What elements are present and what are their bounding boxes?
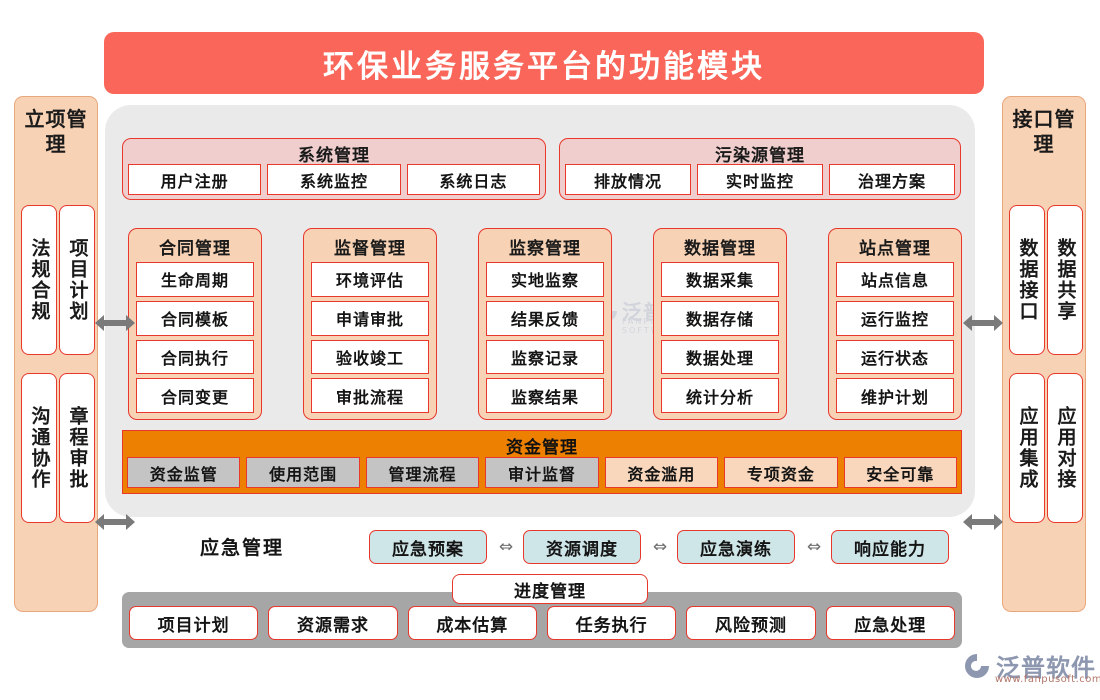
card-contract-management: 合同管理 生命周期 合同模板 合同执行 合同变更: [128, 228, 262, 420]
item-treatment-plan[interactable]: 治理方案: [829, 164, 955, 195]
card-supervision-management-title: 监督管理: [304, 234, 436, 259]
item-acceptance-completion[interactable]: 验收竣工: [311, 340, 429, 375]
sidebar-left-heading: 立项管理: [15, 107, 97, 157]
item-system-monitoring[interactable]: 系统监控: [267, 164, 400, 195]
panel-system-management-items: 用户注册 系统监控 系统日志: [128, 164, 540, 195]
item-contract-template[interactable]: 合同模板: [136, 301, 254, 336]
item-emergency-drill[interactable]: 应急演练: [677, 530, 795, 564]
item-contract-execution[interactable]: 合同执行: [136, 340, 254, 375]
item-resource-requirement[interactable]: 资源需求: [268, 606, 397, 640]
item-operation-status[interactable]: 运行状态: [836, 340, 954, 375]
sidebar-item-data-interface[interactable]: 数据接口: [1009, 205, 1045, 355]
card-station-management-items: 站点信息 运行监控 运行状态 维护计划: [836, 262, 954, 413]
item-emission-status[interactable]: 排放情况: [565, 164, 691, 195]
panel-pollution-source-management: 污染源管理 排放情况 实时监控 治理方案: [559, 138, 961, 200]
card-station-management-title: 站点管理: [829, 234, 961, 259]
card-supervision-management: 监督管理 环境评估 申请审批 验收竣工 审批流程: [303, 228, 437, 420]
connector-arrow-right-top-icon: [962, 312, 1004, 334]
sidebar-item-data-sharing[interactable]: 数据共享: [1047, 205, 1083, 355]
panel-pollution-source-items: 排放情况 实时监控 治理方案: [565, 164, 955, 195]
item-special-fund[interactable]: 专项资金: [724, 457, 837, 488]
emergency-arrow-icon-1: ⇔: [491, 539, 521, 555]
item-system-log[interactable]: 系统日志: [407, 164, 540, 195]
item-maintenance-plan[interactable]: 维护计划: [836, 378, 954, 413]
diagram-canvas: 环保业务服务平台的功能模块 立项管理 法规合规 项目计划 沟通协作 章程审批 接…: [0, 0, 1100, 700]
item-task-execution[interactable]: 任务执行: [547, 606, 676, 640]
item-emergency-handling[interactable]: 应急处理: [826, 606, 955, 640]
sidebar-item-regulation-compliance[interactable]: 法规合规: [21, 205, 57, 355]
sidebar-right-heading: 接口管理: [1003, 107, 1085, 157]
item-environmental-assessment[interactable]: 环境评估: [311, 262, 429, 297]
item-safe-reliable[interactable]: 安全可靠: [844, 457, 957, 488]
card-inspection-management-title: 监察管理: [479, 234, 611, 259]
panel-progress-management-items: 项目计划 资源需求 成本估算 任务执行 风险预测 应急处理: [129, 606, 955, 640]
item-result-feedback[interactable]: 结果反馈: [486, 301, 604, 336]
card-data-management-title: 数据管理: [654, 234, 786, 259]
item-approval-process[interactable]: 审批流程: [311, 378, 429, 413]
item-user-registration[interactable]: 用户注册: [128, 164, 261, 195]
item-audit-supervision[interactable]: 审计监督: [485, 457, 598, 488]
emergency-arrow-icon-3: ⇔: [799, 539, 829, 555]
item-inspection-result[interactable]: 监察结果: [486, 378, 604, 413]
item-usage-scope[interactable]: 使用范围: [246, 457, 359, 488]
item-cost-estimation[interactable]: 成本估算: [408, 606, 537, 640]
item-emergency-plan[interactable]: 应急预案: [369, 530, 487, 564]
fanpu-logo: 泛普软件 www.fanpusoft.com: [963, 648, 1096, 683]
connector-arrow-left-top-icon: [94, 312, 136, 334]
panel-pollution-source-title: 污染源管理: [560, 141, 960, 166]
item-response-capability[interactable]: 响应能力: [831, 530, 949, 564]
sidebar-item-charter-approval[interactable]: 章程审批: [59, 373, 95, 523]
card-station-management: 站点管理 站点信息 运行监控 运行状态 维护计划: [828, 228, 962, 420]
item-operation-monitoring[interactable]: 运行监控: [836, 301, 954, 336]
item-data-processing[interactable]: 数据处理: [661, 340, 779, 375]
emergency-arrow-icon-2: ⇔: [645, 539, 675, 555]
panel-fund-management: 资金管理 资金监管 使用范围 管理流程 审计监督 资金滥用 专项资金 安全可靠: [122, 430, 962, 494]
fanpu-logo-url: www.fanpusoft.com: [995, 674, 1100, 685]
panel-system-management-title: 系统管理: [123, 141, 545, 166]
item-contract-change[interactable]: 合同变更: [136, 378, 254, 413]
card-data-management-items: 数据采集 数据存储 数据处理 统计分析: [661, 262, 779, 413]
item-data-collection[interactable]: 数据采集: [661, 262, 779, 297]
item-station-info[interactable]: 站点信息: [836, 262, 954, 297]
connector-arrow-left-bottom-icon: [94, 511, 136, 533]
card-inspection-management-items: 实地监察 结果反馈 监察记录 监察结果: [486, 262, 604, 413]
item-inspection-record[interactable]: 监察记录: [486, 340, 604, 375]
sidebar-item-communication-collaboration[interactable]: 沟通协作: [21, 373, 57, 523]
fanpu-logo-mark-icon: [963, 653, 991, 679]
item-management-process[interactable]: 管理流程: [366, 457, 479, 488]
item-project-plan[interactable]: 项目计划: [129, 606, 258, 640]
sidebar-right-interface-management: 接口管理 数据接口 数据共享 应用集成 应用对接: [1002, 96, 1086, 612]
sidebar-item-application-docking[interactable]: 应用对接: [1047, 373, 1083, 523]
item-realtime-monitoring[interactable]: 实时监控: [697, 164, 823, 195]
item-fund-misuse[interactable]: 资金滥用: [605, 457, 718, 488]
page-title: 环保业务服务平台的功能模块: [104, 32, 984, 94]
card-inspection-management: 监察管理 实地监察 结果反馈 监察记录 监察结果: [478, 228, 612, 420]
panel-fund-management-title: 资金管理: [123, 433, 961, 458]
card-contract-management-items: 生命周期 合同模板 合同执行 合同变更: [136, 262, 254, 413]
panel-fund-management-items: 资金监管 使用范围 管理流程 审计监督 资金滥用 专项资金 安全可靠: [127, 457, 957, 488]
panel-system-management: 系统管理 用户注册 系统监控 系统日志: [122, 138, 546, 200]
sidebar-left-project-initiation: 立项管理 法规合规 项目计划 沟通协作 章程审批: [14, 96, 98, 612]
card-contract-management-title: 合同管理: [129, 234, 261, 259]
item-field-inspection[interactable]: 实地监察: [486, 262, 604, 297]
item-fund-supervision[interactable]: 资金监管: [127, 457, 240, 488]
card-supervision-management-items: 环境评估 申请审批 验收竣工 审批流程: [311, 262, 429, 413]
item-data-storage[interactable]: 数据存储: [661, 301, 779, 336]
sidebar-item-application-integration[interactable]: 应用集成: [1009, 373, 1045, 523]
item-life-cycle[interactable]: 生命周期: [136, 262, 254, 297]
item-resource-scheduling[interactable]: 资源调度: [523, 530, 641, 564]
emergency-management-label: 应急管理: [200, 533, 340, 560]
item-risk-prediction[interactable]: 风险预测: [686, 606, 815, 640]
item-application-approval[interactable]: 申请审批: [311, 301, 429, 336]
panel-progress-management-title: 进度管理: [452, 574, 648, 604]
item-statistical-analysis[interactable]: 统计分析: [661, 378, 779, 413]
sidebar-item-project-plan[interactable]: 项目计划: [59, 205, 95, 355]
connector-arrow-right-bottom-icon: [962, 511, 1004, 533]
card-data-management: 数据管理 数据采集 数据存储 数据处理 统计分析: [653, 228, 787, 420]
